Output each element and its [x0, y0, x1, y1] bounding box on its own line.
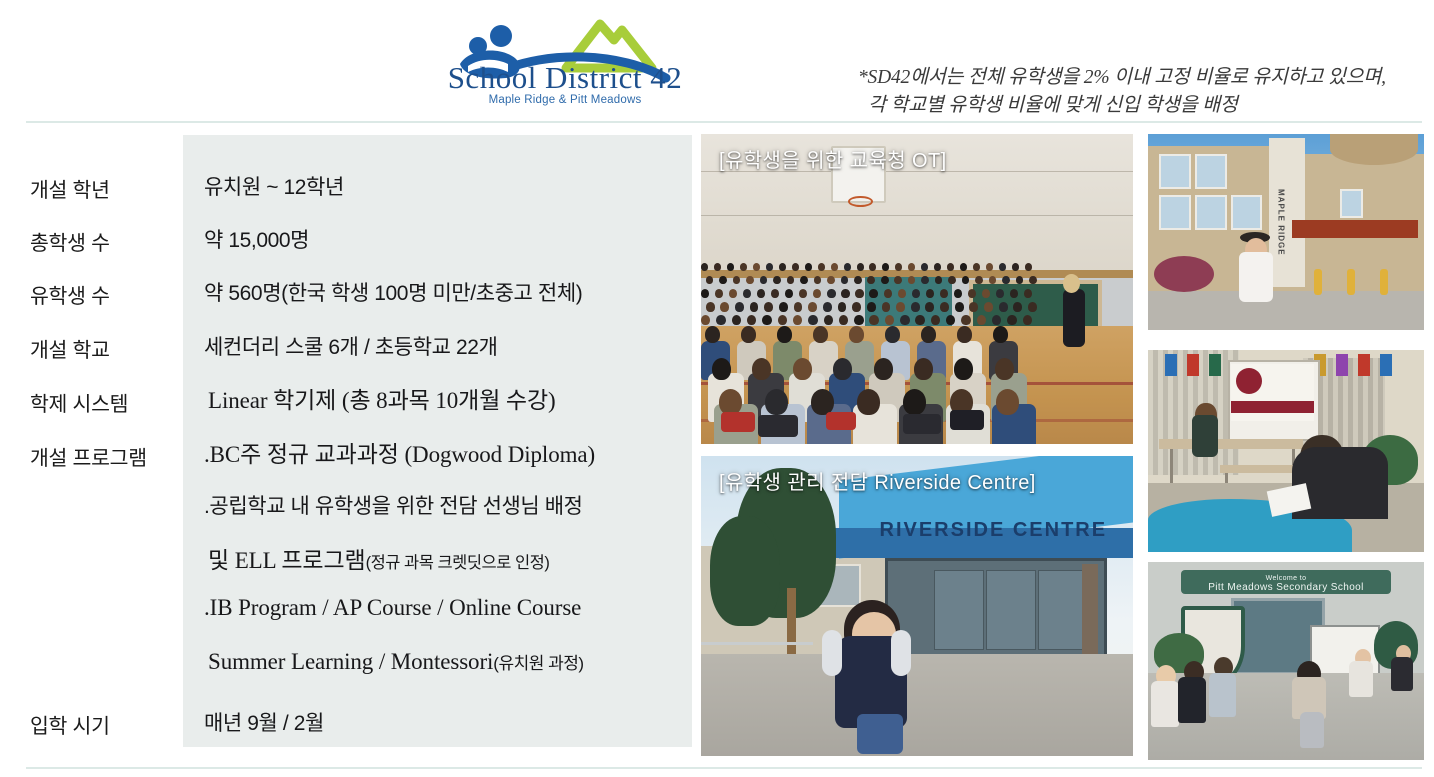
info-value-grade-range: 유치원 ~ 12학년	[204, 171, 344, 201]
info-label-total-students: 총학생 수	[30, 226, 110, 256]
footer-divider	[26, 767, 1422, 769]
info-value-panel: 유치원 ~ 12학년 약 15,000명 약 560명(한국 학생 100명 미…	[183, 135, 692, 747]
info-label-intl-students: 유학생 수	[30, 279, 110, 309]
policy-note-line2: 각 학교별 유학생 비율에 맞게 신입 학생을 배정	[858, 92, 1424, 120]
photo-riverside-centre-art: RIVERSIDE CENTRE	[701, 456, 1133, 756]
info-value-program-summer: Summer Learning / Montessori(유치원 과정)	[208, 649, 584, 675]
info-value-program-ell-main: 및 ELL 프로그램	[208, 548, 366, 573]
policy-note: *SD42에서는 전체 유학생을 2% 이내 고정 비율로 유지하고 있으며, …	[858, 64, 1424, 120]
info-label-programs: 개설 프로그램	[30, 441, 147, 471]
info-value-program-ell-note: (정규 과목 크렛딧으로 인정)	[366, 554, 550, 572]
info-value-system: Linear 학기제 (총 8과목 10개월 수강)	[208, 381, 556, 415]
photo-maple-ridge-secondary: MAPLE RIDGE	[1148, 134, 1424, 330]
photo-orientation-gym-art	[701, 134, 1133, 444]
policy-note-line1: *SD42에서는 전체 유학생을 2% 이내 고정 비율로 유지하고 있으며,	[858, 67, 1386, 88]
info-value-total-students: 약 15,000명	[204, 224, 309, 254]
info-value-schools: 세컨더리 스쿨 6개 / 초등학교 22개	[204, 331, 497, 361]
photo-pitt-meadows-secondary-art: Welcome to Pitt Meadows Secondary School	[1148, 562, 1424, 760]
photo-classroom-presentation-art	[1148, 350, 1424, 552]
header-divider	[26, 121, 1422, 123]
info-value-program-summer-note: (유치원 과정)	[493, 654, 583, 673]
pitt-meadows-sign-text: Pitt Meadows Secondary School	[1208, 582, 1364, 593]
logo-title: School District 42	[438, 60, 692, 96]
info-label-schools: 개설 학교	[30, 333, 110, 363]
photo-pitt-meadows-secondary: Welcome to Pitt Meadows Secondary School	[1148, 562, 1424, 760]
info-value-program-dogwood: .BC주 정규 교과과정 (Dogwood Diploma)	[204, 435, 595, 469]
photo-riverside-centre-caption: [유학생 관리 전담 Riverside Centre]	[719, 466, 1036, 495]
info-value-program-summer-main: Summer Learning / Montessori	[208, 649, 493, 674]
info-label-system: 학제 시스템	[30, 387, 128, 417]
pitt-meadows-welcome-text: Welcome to	[1187, 575, 1386, 582]
info-value-program-ib: .IB Program / AP Course / Online Course	[204, 595, 581, 621]
riverside-sign-text: RIVERSIDE CENTRE	[880, 519, 1108, 542]
info-label-grade-range: 개설 학년	[30, 173, 110, 203]
info-value-program-ell: 및 ELL 프로그램(정규 과목 크렛딧으로 인정)	[208, 541, 549, 575]
info-value-intl-students: 약 560명(한국 학생 100명 미만/초중고 전체)	[204, 277, 582, 307]
page-header: School District 42 Maple Ridge & Pitt Me…	[0, 0, 1434, 122]
photo-classroom-presentation	[1148, 350, 1424, 552]
sd42-logo: School District 42 Maple Ridge & Pitt Me…	[438, 6, 692, 118]
info-label-intake: 입학 시기	[30, 709, 110, 739]
photo-orientation-gym-caption: [유학생을 위한 교육청 OT]	[719, 144, 947, 173]
info-value-intake: 매년 9월 / 2월	[204, 707, 324, 737]
photo-maple-ridge-secondary-art: MAPLE RIDGE	[1148, 134, 1424, 330]
photo-riverside-centre: RIVERSIDE CENTRE [유학생 관리 전담 Riverside Ce…	[701, 456, 1133, 756]
info-value-program-teacher: .공립학교 내 유학생을 위한 전담 선생님 배정	[204, 490, 583, 520]
photo-orientation-gym: [유학생을 위한 교육청 OT]	[701, 134, 1133, 444]
maple-ridge-sign-text: MAPLE RIDGE	[1276, 189, 1285, 256]
